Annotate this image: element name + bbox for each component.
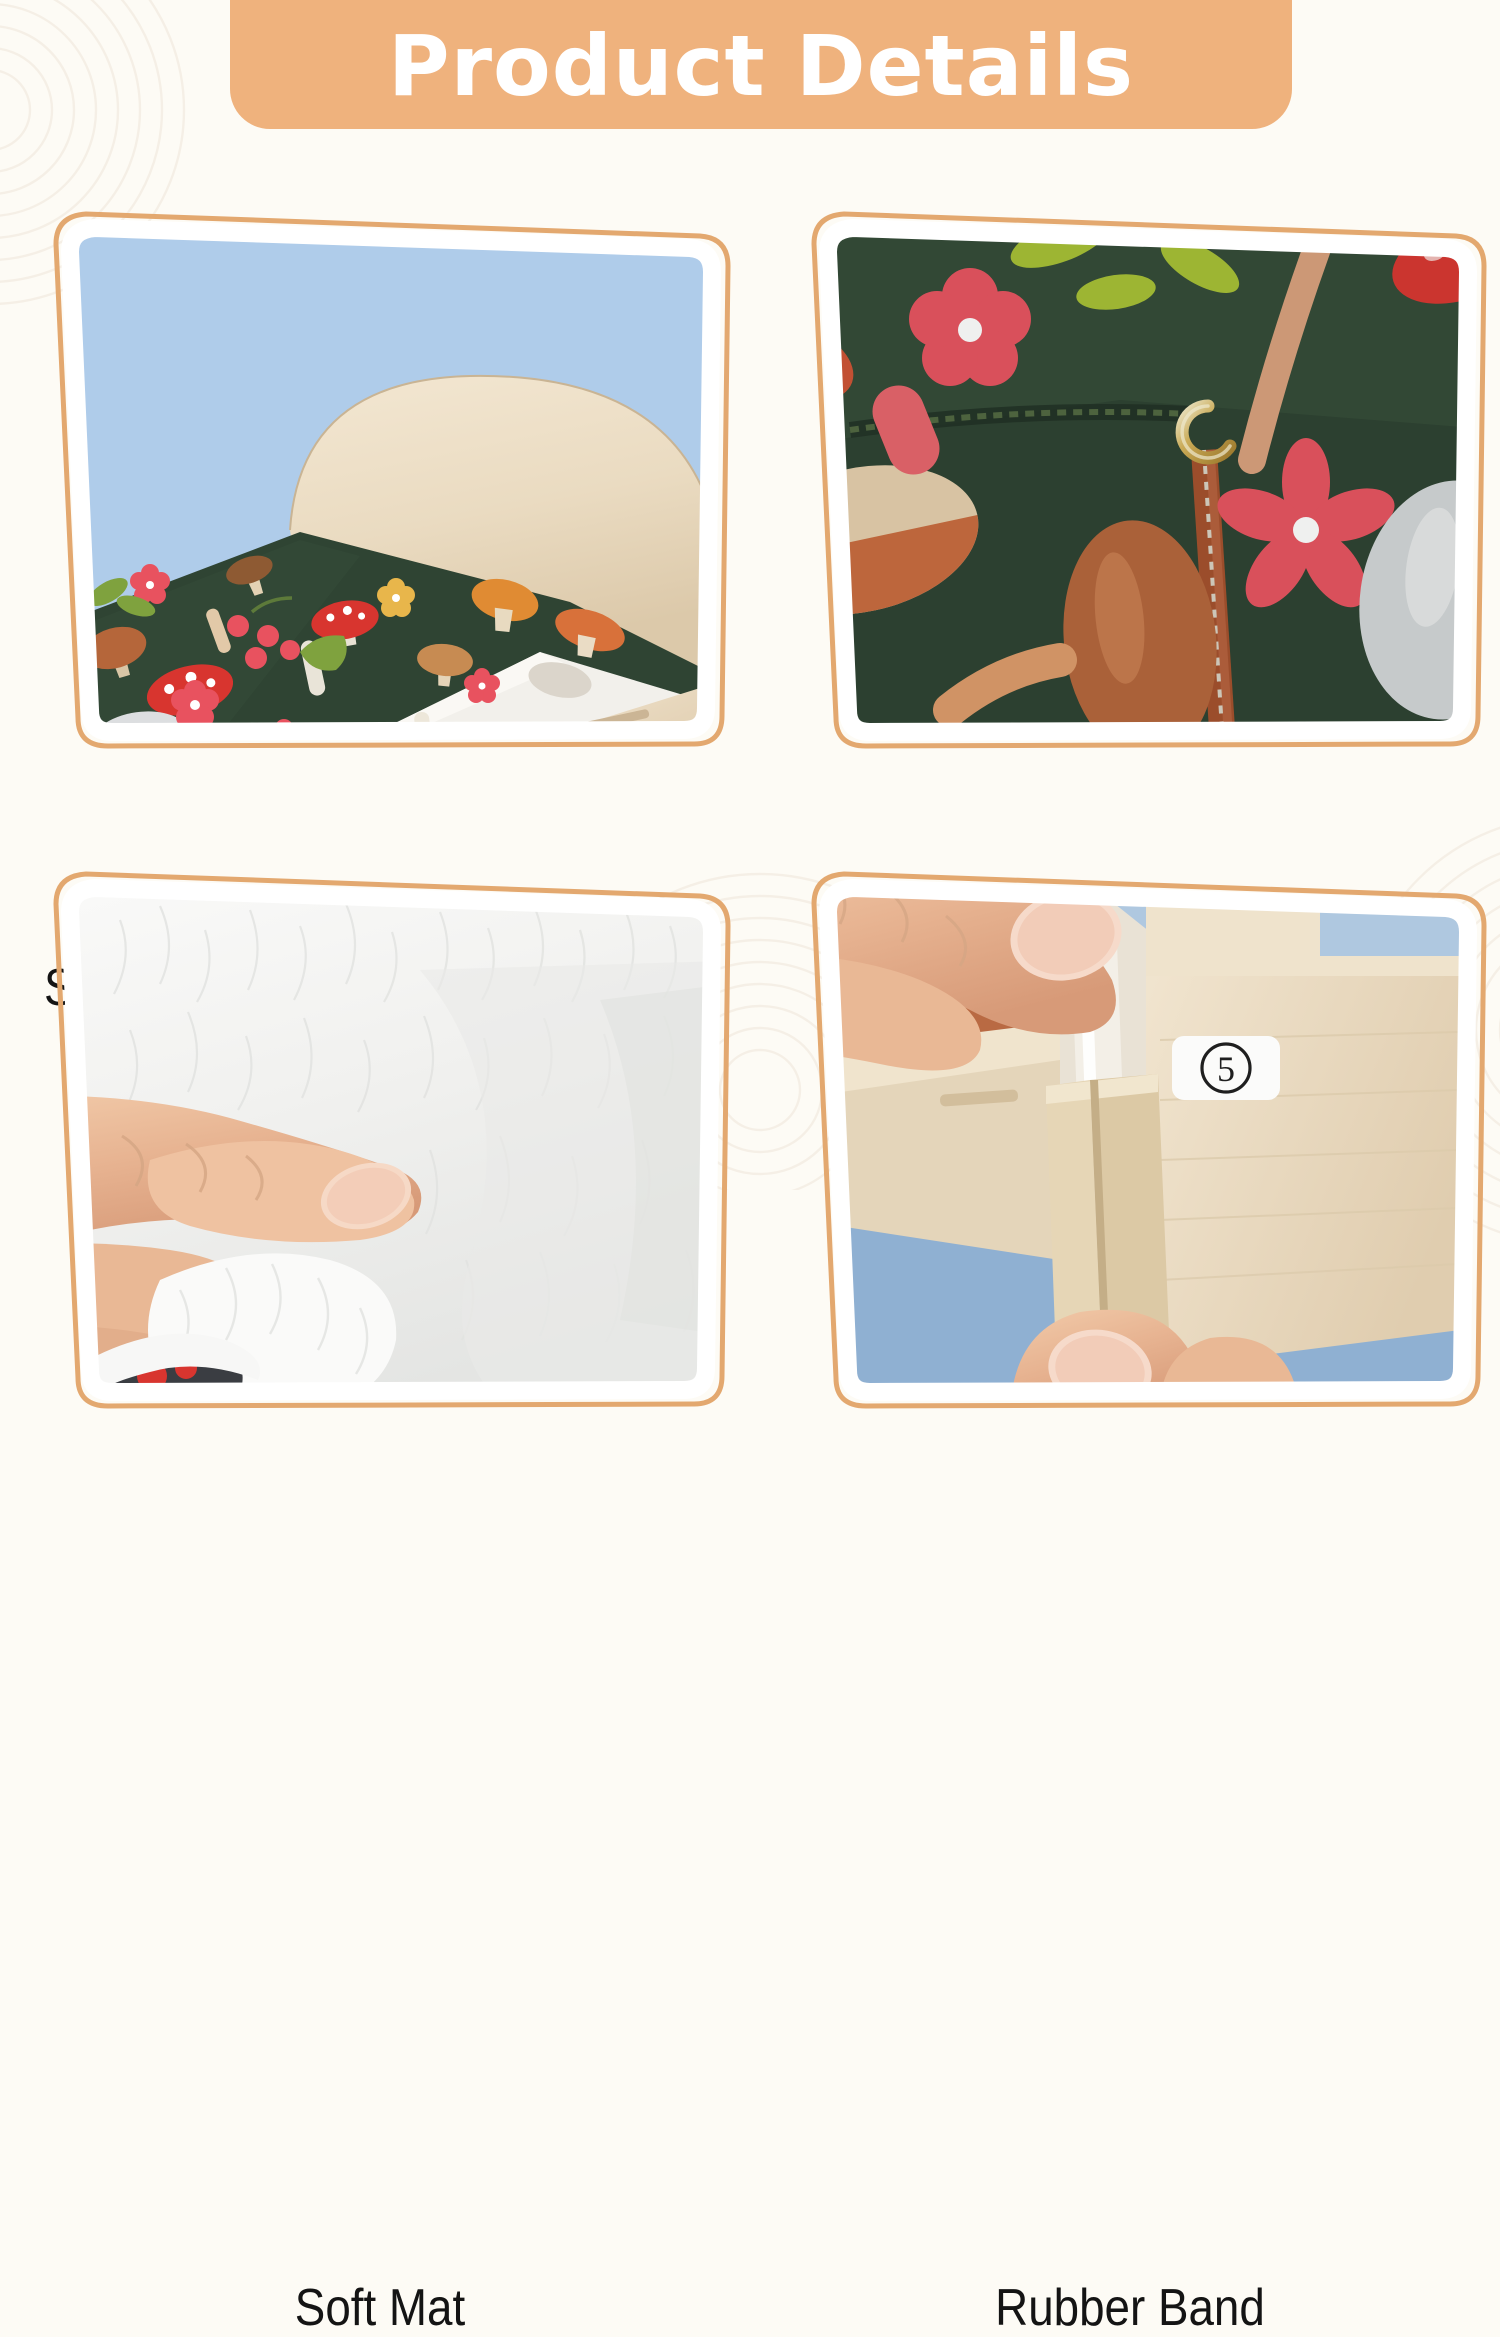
panel-soft-mat[interactable]: Soft Mat	[0, 860, 760, 1420]
svg-text:5: 5	[1217, 1049, 1235, 1089]
panel-bed-head[interactable]: Smooth and round bed head	[0, 200, 760, 760]
photo-rubber-band: 5	[760, 860, 1500, 1420]
photo-door-curtain	[760, 200, 1500, 760]
caption-soft-mat: Soft Mat	[46, 2282, 715, 2334]
header-banner: Product Details	[230, 0, 1292, 129]
page-title: Product Details	[388, 24, 1134, 108]
panel-rubber-band[interactable]: 5	[760, 860, 1500, 1420]
number-label: 5	[1172, 1036, 1280, 1100]
photo-bed-head	[0, 200, 760, 760]
photo-soft-mat	[0, 860, 760, 1420]
caption-rubber-band: Rubber Band	[804, 2282, 1455, 2334]
infographic-canvas: Product Details	[0, 0, 1500, 1500]
panel-door-curtain[interactable]: Removable Door Curtain	[760, 200, 1500, 760]
